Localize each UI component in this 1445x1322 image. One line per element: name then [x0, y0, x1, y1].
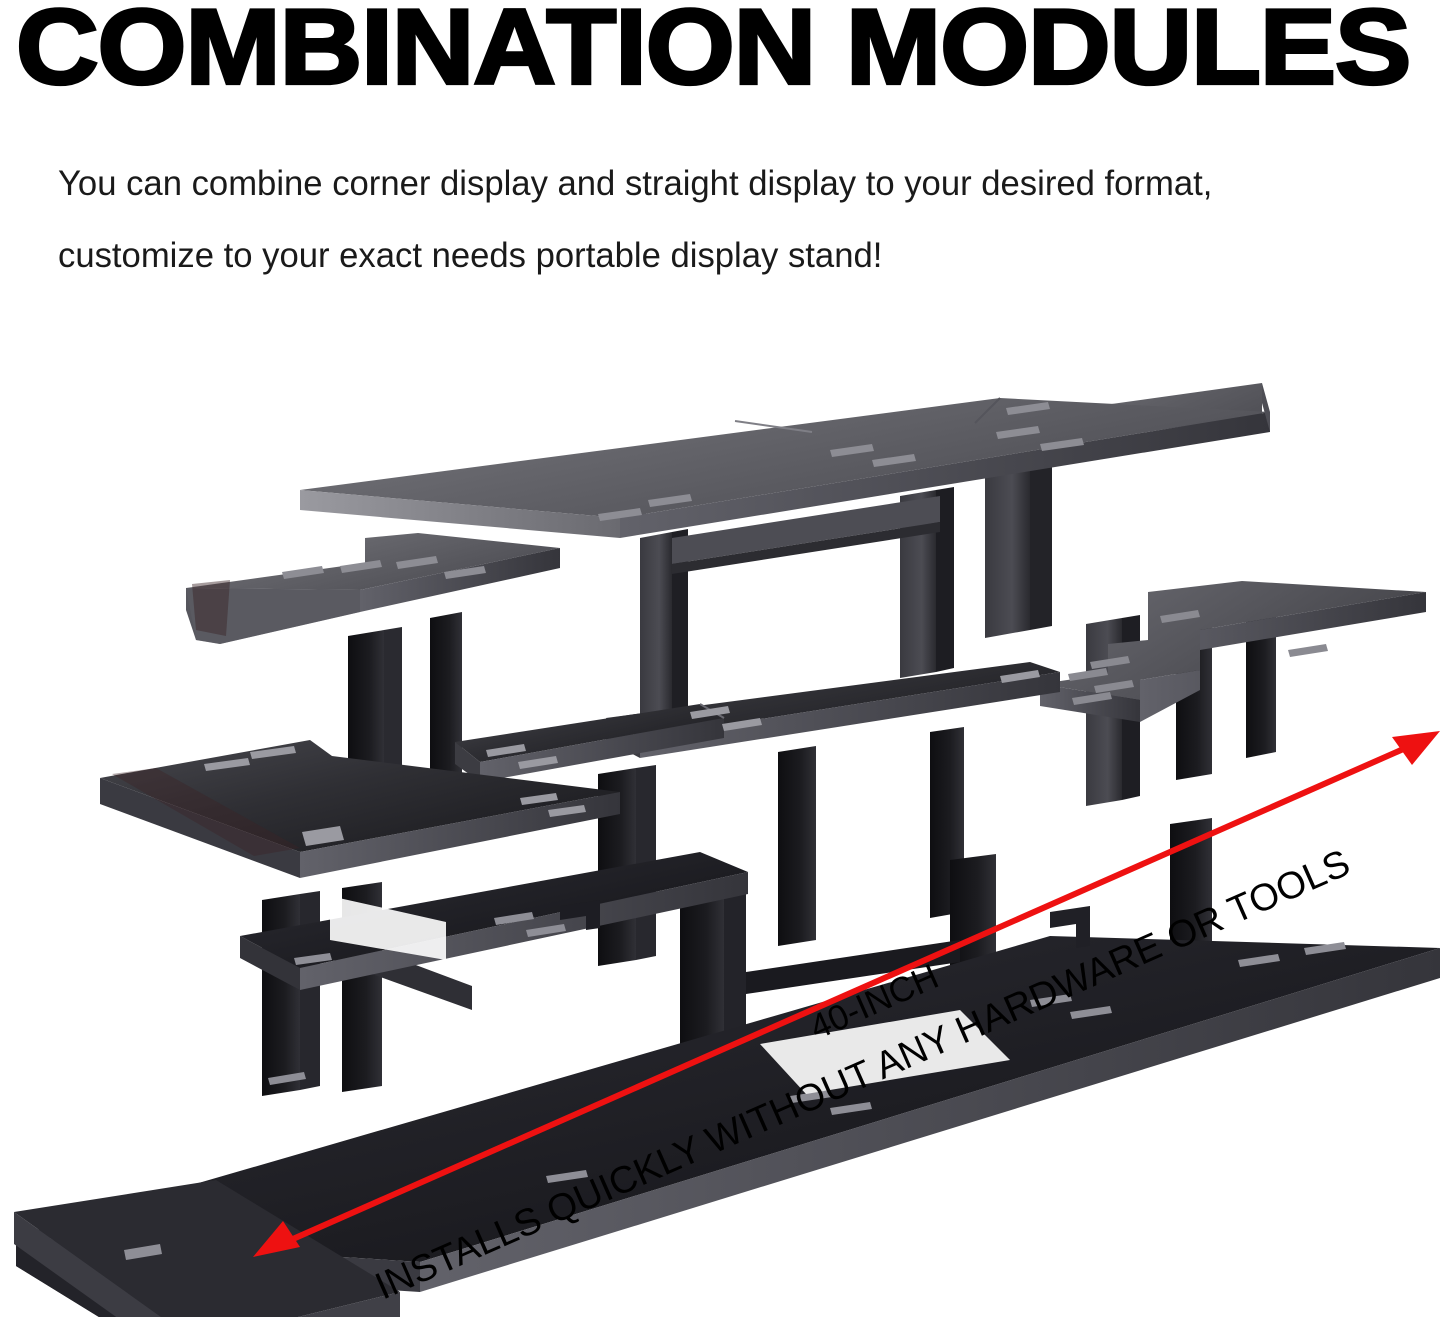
- slot: [1288, 644, 1328, 657]
- tier3-shelf: [300, 383, 1270, 538]
- product-illustration: [0, 300, 1445, 1317]
- support-post: [778, 746, 816, 946]
- support-post: [985, 462, 1030, 638]
- support-post: [262, 894, 300, 1096]
- product-photo: [0, 300, 1445, 1317]
- tier2-right-shelf: [1040, 581, 1426, 806]
- subtitle-line-1: You can combine corner display and strai…: [58, 148, 1385, 220]
- support-post-side: [1030, 458, 1052, 630]
- support-post-side: [300, 891, 320, 1090]
- support-post: [640, 532, 672, 724]
- shelf-reflection: [192, 580, 230, 636]
- subtitle-line-2: customize to your exact needs portable d…: [58, 220, 1385, 292]
- page-title: COMBINATION MODULES DESIGN: [16, 0, 1445, 101]
- subtitle-block: You can combine corner display and strai…: [58, 148, 1398, 292]
